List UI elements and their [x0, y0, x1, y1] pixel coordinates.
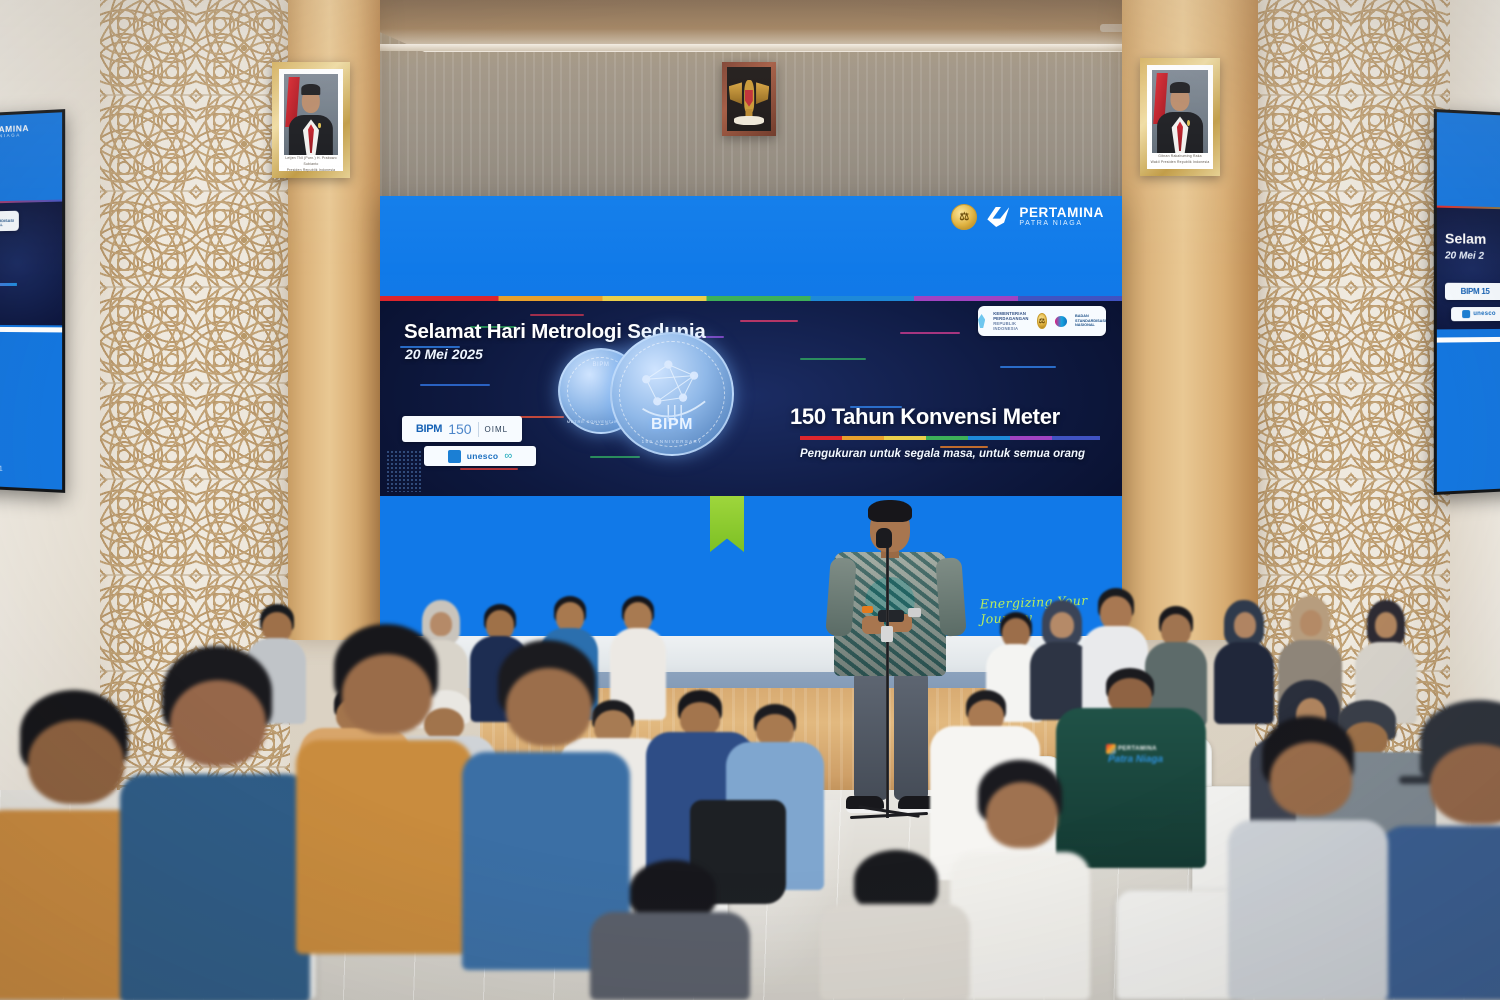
uniform-badge: PERTAMINA	[1118, 746, 1157, 752]
right-wall-monitor: Selam 20 Mei 2 BIPM 15 unesco	[1434, 109, 1500, 495]
slide-banner: Selamat Hari Metrologi Sedunia 20 Mei 20…	[380, 296, 1122, 496]
bsn-oval-icon	[1055, 316, 1067, 327]
main-projection-screen: ⚖ PERTAMINA PATRA NIAGA	[380, 196, 1122, 636]
pertamina-brand-lockup: ⚖ PERTAMINA PATRA NIAGA	[951, 204, 1104, 230]
vice-president-portrait-frame: Gibran Rakabuming Raka Wakil Presiden Re…	[1140, 58, 1220, 176]
chair	[1116, 890, 1242, 1000]
kemendag-icon	[978, 314, 985, 328]
speaker-phone	[878, 610, 904, 622]
president-portrait-frame: Letjen TNI (Purn.) H. Prabowo Subianto P…	[272, 62, 350, 178]
bsn-wordmark: BADAN STANDARDISASI NASIONAL	[1075, 314, 1106, 328]
microphone-tripod-base	[850, 806, 928, 822]
attendee-with-cap	[1380, 700, 1500, 1000]
president-photo	[284, 74, 338, 155]
oiml-wordmark: OIML	[485, 425, 509, 434]
uniform-sub-badge: Patra Niaga	[1108, 754, 1163, 765]
bipm-oiml-logo-chip: BIPM 150 OIML	[402, 416, 522, 442]
frame-mat: Gibran Rakabuming Raka Wakil Presiden Re…	[1147, 65, 1213, 169]
right-monitor-title: Selam	[1445, 230, 1486, 247]
coin-obverse: BIPM 150 ANNIVERSARY	[610, 332, 734, 456]
attendee	[1228, 716, 1388, 1000]
frame-mat: Letjen TNI (Purn.) H. Prabowo Subianto P…	[279, 69, 343, 171]
bipm-150-number: 150	[448, 421, 471, 437]
green-ribbon-decor	[710, 496, 744, 552]
speaker-arm-left	[825, 557, 856, 637]
garuda-emblem-frame	[722, 62, 776, 136]
attendee	[950, 760, 1090, 1000]
microphone-icon	[876, 528, 892, 548]
vice-president-photo	[1152, 70, 1208, 153]
left-monitor-page-number: | 1	[0, 466, 3, 473]
slide-tagline: Pengukuran untuk segala masa, untuk semu…	[800, 448, 1100, 460]
event-photo-scene: Letjen TNI (Purn.) H. Prabowo Subianto P…	[0, 0, 1500, 1000]
left-wall-monitor: PERTAMINA PATRA NIAGA BADAN STANDARDISAS…	[0, 109, 65, 493]
attendee	[296, 624, 472, 954]
slide-date: 20 Mei 2025	[405, 346, 483, 362]
patra-niaga-wordmark: PATRA NIAGA	[1019, 220, 1104, 227]
speaker-legs	[852, 672, 930, 800]
attendee	[590, 860, 750, 1000]
kemendag-wordmark: KEMENTERIAN PERDAGANGAN REPUBLIK INDONES…	[993, 311, 1028, 332]
right-monitor-screen: Selam 20 Mei 2 BIPM 15 unesco	[1437, 112, 1500, 492]
infinity-icon: ∞	[504, 450, 512, 462]
left-monitor-screen: PERTAMINA PATRA NIAGA BADAN STANDARDISAS…	[0, 112, 62, 489]
bsml-seal-icon: ⚖	[1037, 313, 1047, 329]
bipm-wordmark: BIPM	[416, 423, 442, 435]
bsn-logo-chip: BADAN STANDARDISASI NASIONAL	[0, 211, 19, 232]
microphone-cable-clip	[881, 626, 893, 642]
ceiling-trim	[380, 44, 1122, 51]
bipm-logo-chip: BIPM 15	[1445, 283, 1500, 300]
right-monitor-date: 20 Mei 2	[1445, 250, 1484, 262]
rainbow-divider-rule	[800, 436, 1100, 440]
unesco-square-icon	[448, 450, 461, 463]
speaker-watch	[908, 608, 921, 617]
pertamina-logo-icon	[1106, 744, 1116, 754]
halftone-dots-decor	[386, 450, 422, 492]
attendee	[820, 850, 970, 1000]
partner-logos-chip: KEMENTERIAN PERDAGANGAN REPUBLIK INDONES…	[978, 306, 1106, 336]
slide-headline: 150 Tahun Konvensi Meter	[790, 404, 1100, 430]
unesco-wordmark: unesco	[467, 451, 499, 461]
chip-divider	[478, 422, 479, 437]
garuda-emblem-icon	[727, 67, 771, 131]
speaker-wristband	[862, 606, 873, 613]
metrology-seal-icon: ⚖	[951, 204, 977, 230]
president-caption: Letjen TNI (Purn.) H. Prabowo Subianto P…	[279, 155, 343, 169]
microphone-stand	[886, 536, 889, 818]
unesco-logo-chip: unesco	[1451, 307, 1500, 321]
attendee	[120, 646, 310, 1000]
unesco-logo-chip: unesco ∞	[424, 446, 536, 466]
rainbow-divider-top	[380, 296, 1122, 301]
unesco-square-icon	[1462, 310, 1470, 318]
speaker-arm-right	[935, 557, 966, 637]
speaker-hair	[868, 500, 912, 522]
bipm-commemorative-coins: BIPM METRE CONVENTION 1875	[558, 324, 690, 492]
pertamina-wordmark: PERTAMINA	[1019, 206, 1104, 220]
vice-president-caption: Gibran Rakabuming Raka Wakil Presiden Re…	[1147, 153, 1213, 167]
pertamina-arrow-icon	[987, 207, 1009, 227]
